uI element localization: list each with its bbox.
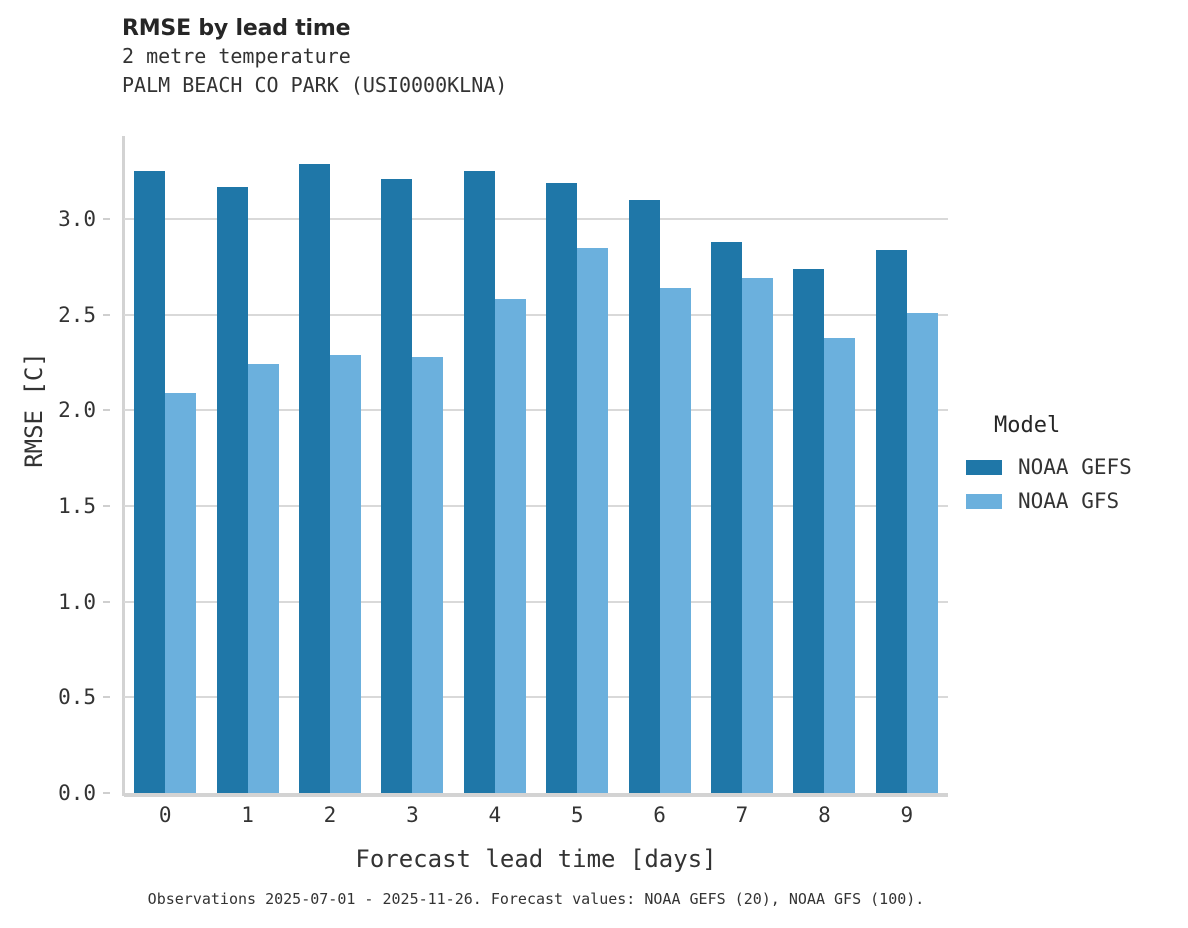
bar xyxy=(907,313,938,793)
bar xyxy=(876,250,907,793)
bar xyxy=(217,187,248,793)
bar-series-container xyxy=(124,133,948,793)
title-block: RMSE by lead time 2 metre temperature PA… xyxy=(122,16,942,100)
chart-figure: RMSE by lead time 2 metre temperature PA… xyxy=(0,0,1188,928)
x-axis-tick-label: 6 xyxy=(653,803,666,827)
legend-item-label: NOAA GFS xyxy=(1018,489,1119,513)
y-axis-tick-label: 3.0 xyxy=(58,207,96,231)
bar xyxy=(577,248,608,793)
y-axis-tick-label: 0.0 xyxy=(58,781,96,805)
x-axis-title: Forecast lead time [days] xyxy=(124,845,948,873)
x-axis-spine xyxy=(124,793,948,797)
y-axis-tick-mark xyxy=(103,792,110,794)
legend-rows: NOAA GEFSNOAA GFS xyxy=(966,450,1180,518)
legend-item-label: NOAA GEFS xyxy=(1018,455,1132,479)
footer-note: Observations 2025-07-01 - 2025-11-26. Fo… xyxy=(0,890,1072,908)
legend-color-swatch xyxy=(966,460,1002,475)
y-axis-tick-mark xyxy=(103,409,110,411)
legend-color-swatch xyxy=(966,494,1002,509)
y-axis-tick-mark xyxy=(103,696,110,698)
y-axis-tick-labels: 0.00.51.01.52.02.53.0 xyxy=(0,133,110,793)
legend: Model NOAA GEFSNOAA GFS xyxy=(966,413,1180,518)
y-axis-tick-label: 1.5 xyxy=(58,494,96,518)
chart-subtitle-variable: 2 metre temperature xyxy=(122,42,942,71)
bar xyxy=(248,364,279,793)
x-axis-tick-label: 9 xyxy=(900,803,913,827)
bar xyxy=(793,269,824,793)
x-axis-tick-labels: 0123456789 xyxy=(124,803,948,837)
y-axis-tick-mark xyxy=(103,218,110,220)
x-axis-tick-label: 2 xyxy=(324,803,337,827)
x-axis-tick-label: 8 xyxy=(818,803,831,827)
y-axis-tick-label: 1.0 xyxy=(58,590,96,614)
bar xyxy=(629,200,660,793)
y-axis-tick-mark xyxy=(103,601,110,603)
bar xyxy=(464,171,495,793)
bar xyxy=(330,355,361,793)
x-axis-tick-label: 0 xyxy=(159,803,172,827)
y-axis-tick-mark xyxy=(103,314,110,316)
bar xyxy=(165,393,196,793)
bar xyxy=(299,164,330,793)
y-axis-tick-label: 2.0 xyxy=(58,398,96,422)
chart-subtitle-station: PALM BEACH CO PARK (USI0000KLNA) xyxy=(122,71,942,100)
bar xyxy=(495,299,526,793)
bar xyxy=(381,179,412,793)
x-axis-tick-label: 5 xyxy=(571,803,584,827)
y-axis-tick-mark xyxy=(103,505,110,507)
bar xyxy=(546,183,577,793)
bar xyxy=(412,357,443,793)
bar xyxy=(742,278,773,793)
legend-item-noaa-gfs[interactable]: NOAA GFS xyxy=(966,484,1180,518)
y-axis-tick-label: 2.5 xyxy=(58,303,96,327)
legend-item-noaa-gefs[interactable]: NOAA GEFS xyxy=(966,450,1180,484)
x-axis-tick-label: 7 xyxy=(736,803,749,827)
legend-title: Model xyxy=(994,413,1180,438)
bar xyxy=(711,242,742,793)
x-axis-tick-label: 3 xyxy=(406,803,419,827)
x-axis-tick-label: 1 xyxy=(241,803,254,827)
y-axis-title: RMSE [C] xyxy=(20,310,48,510)
bar xyxy=(134,171,165,793)
bar xyxy=(824,338,855,793)
y-axis-tick-label: 0.5 xyxy=(58,685,96,709)
page-title: RMSE by lead time xyxy=(122,16,942,42)
x-axis-tick-label: 4 xyxy=(488,803,501,827)
plot-area xyxy=(124,133,948,793)
bar xyxy=(660,288,691,793)
